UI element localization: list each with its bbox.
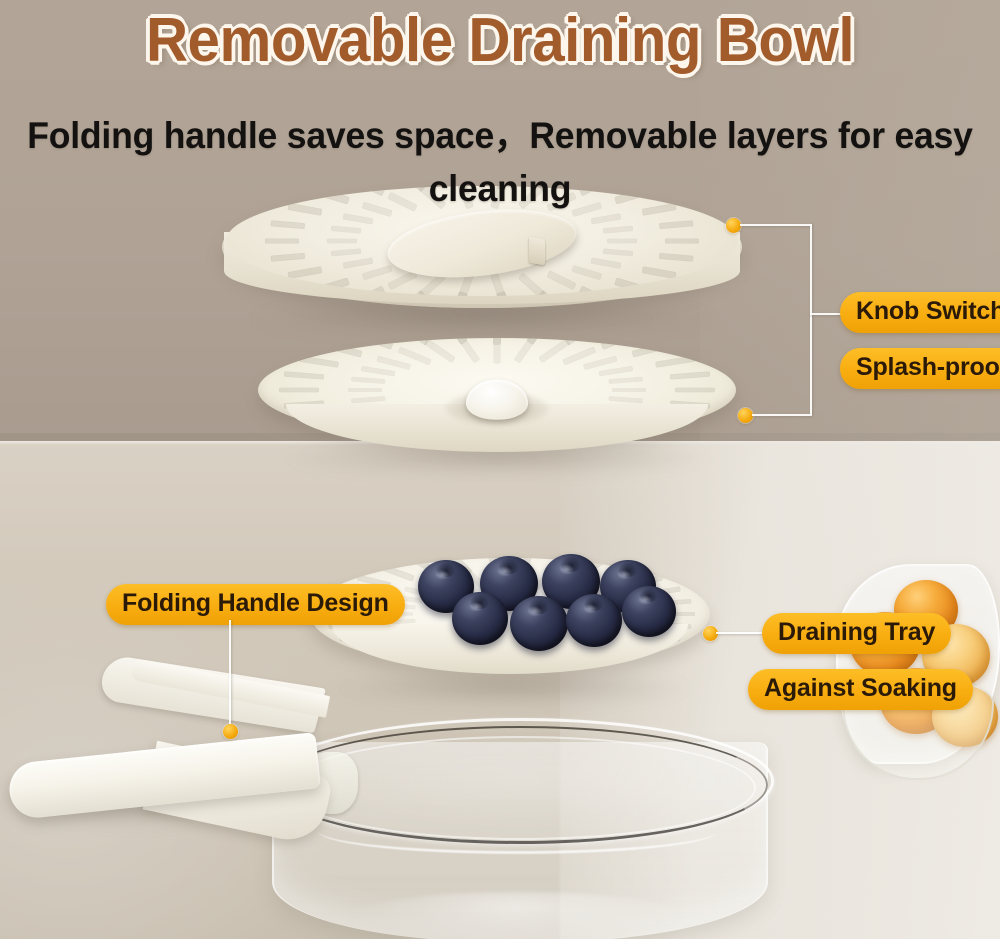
- vent-slot: [331, 249, 361, 257]
- blueberry-crown: [561, 557, 581, 571]
- vent-slot: [579, 286, 613, 296]
- vent-slot: [546, 192, 576, 212]
- callout-line-bottom: [752, 414, 812, 416]
- badge-folding-handle-design[interactable]: Folding Handle Design: [106, 584, 405, 625]
- vent-slot: [642, 266, 677, 279]
- vent-slot: [612, 388, 646, 392]
- vent-slot: [591, 257, 622, 268]
- vent-slot: [288, 266, 323, 279]
- strainer-layer: [258, 330, 736, 460]
- bowl-bottom-sheen: [348, 892, 688, 939]
- vent-slot: [351, 377, 385, 384]
- blueberry-crown: [640, 589, 658, 602]
- vent-slot: [381, 564, 415, 582]
- vent-slot: [591, 213, 622, 224]
- strainer-center-knob: [466, 379, 528, 419]
- callout-anchor-dot-knob-switch: [726, 218, 741, 233]
- vent-slot: [665, 239, 699, 244]
- vent-slot: [546, 270, 576, 290]
- vent-slot: [351, 396, 385, 403]
- vent-slot: [354, 338, 394, 350]
- bowl-rim-highlight: [318, 808, 718, 854]
- vent-slot: [599, 366, 633, 376]
- vent-slot: [455, 338, 480, 363]
- vent-slot: [288, 203, 323, 216]
- callout-line-folding-handle: [229, 620, 231, 730]
- vent-slot: [571, 202, 602, 217]
- vent-slot: [564, 338, 601, 346]
- lid-knob-switch: [529, 237, 545, 266]
- vent-slot: [271, 220, 305, 229]
- vent-slot: [614, 278, 649, 295]
- vent-slot: [659, 220, 693, 229]
- vent-slot: [419, 186, 447, 209]
- vent-slot: [361, 366, 395, 376]
- clear-bowl: [258, 712, 782, 939]
- badge-against-soaking[interactable]: Against Soaking: [748, 669, 973, 710]
- vent-slot: [315, 187, 350, 204]
- blueberry: [510, 596, 568, 651]
- callout-bracket-vertical: [810, 224, 812, 415]
- vent-slot: [675, 388, 715, 392]
- blueberry-crown: [470, 595, 489, 609]
- vent-slot: [609, 377, 643, 384]
- vent-slot: [279, 388, 319, 392]
- vent-slot: [343, 213, 374, 224]
- vent-slot: [284, 371, 324, 379]
- vent-slot: [609, 396, 643, 403]
- vent-slot: [583, 356, 617, 370]
- badge-draining-tray[interactable]: Draining Tray: [762, 613, 951, 654]
- page-title: Removable Draining Bowl: [30, 8, 970, 73]
- blueberry-crown: [584, 597, 603, 611]
- vent-slot: [298, 356, 338, 368]
- callout-anchor-dot-folding-handle: [223, 724, 238, 739]
- vent-slot: [614, 187, 649, 204]
- blueberry-crown: [529, 599, 549, 613]
- vent-slot: [494, 338, 501, 363]
- vent-slot: [518, 273, 546, 296]
- vent-slot: [655, 356, 695, 368]
- vent-slot: [351, 286, 385, 296]
- callout-anchor-dot-splash-proof: [738, 408, 753, 423]
- vent-slot: [607, 239, 637, 243]
- vented-lid: [222, 172, 742, 322]
- vent-slot: [377, 356, 411, 370]
- product-infographic: Removable Draining Bowl Folding handle s…: [0, 0, 1000, 939]
- vent-slot: [601, 338, 641, 350]
- vent-slot: [659, 253, 693, 262]
- badge-splash-proof[interactable]: Splash-proof: [840, 348, 1000, 389]
- vent-slot: [327, 239, 357, 243]
- badge-knob-switch[interactable]: Knob Switch: [840, 292, 1000, 333]
- callout-line-draining-tray: [716, 632, 764, 634]
- blueberry-crown: [436, 563, 455, 577]
- vent-slot: [331, 226, 361, 234]
- blueberry: [452, 592, 508, 645]
- blueberry-crown: [499, 559, 519, 573]
- vent-slot: [579, 186, 613, 196]
- vent-slot: [518, 186, 546, 209]
- vent-slot: [603, 249, 633, 257]
- vent-slot: [362, 202, 393, 217]
- vent-slot: [315, 278, 350, 295]
- blueberry: [566, 594, 622, 647]
- callout-line-top: [740, 224, 812, 226]
- vent-slot: [322, 341, 362, 358]
- blueberry: [622, 586, 676, 637]
- vent-slot: [571, 265, 602, 280]
- vent-slot: [351, 186, 385, 196]
- vent-slot: [632, 341, 672, 358]
- folding-handle: [0, 690, 320, 830]
- vent-slot: [362, 265, 393, 280]
- vent-slot: [670, 371, 710, 379]
- vent-slot: [603, 226, 633, 234]
- vent-slot: [271, 253, 305, 262]
- vent-slot: [348, 388, 382, 392]
- vent-slot: [265, 239, 299, 244]
- vent-slot: [387, 192, 417, 212]
- vent-slot: [343, 257, 374, 268]
- vent-slot: [456, 186, 474, 209]
- blueberry-crown: [618, 563, 637, 577]
- vent-slot: [642, 203, 677, 216]
